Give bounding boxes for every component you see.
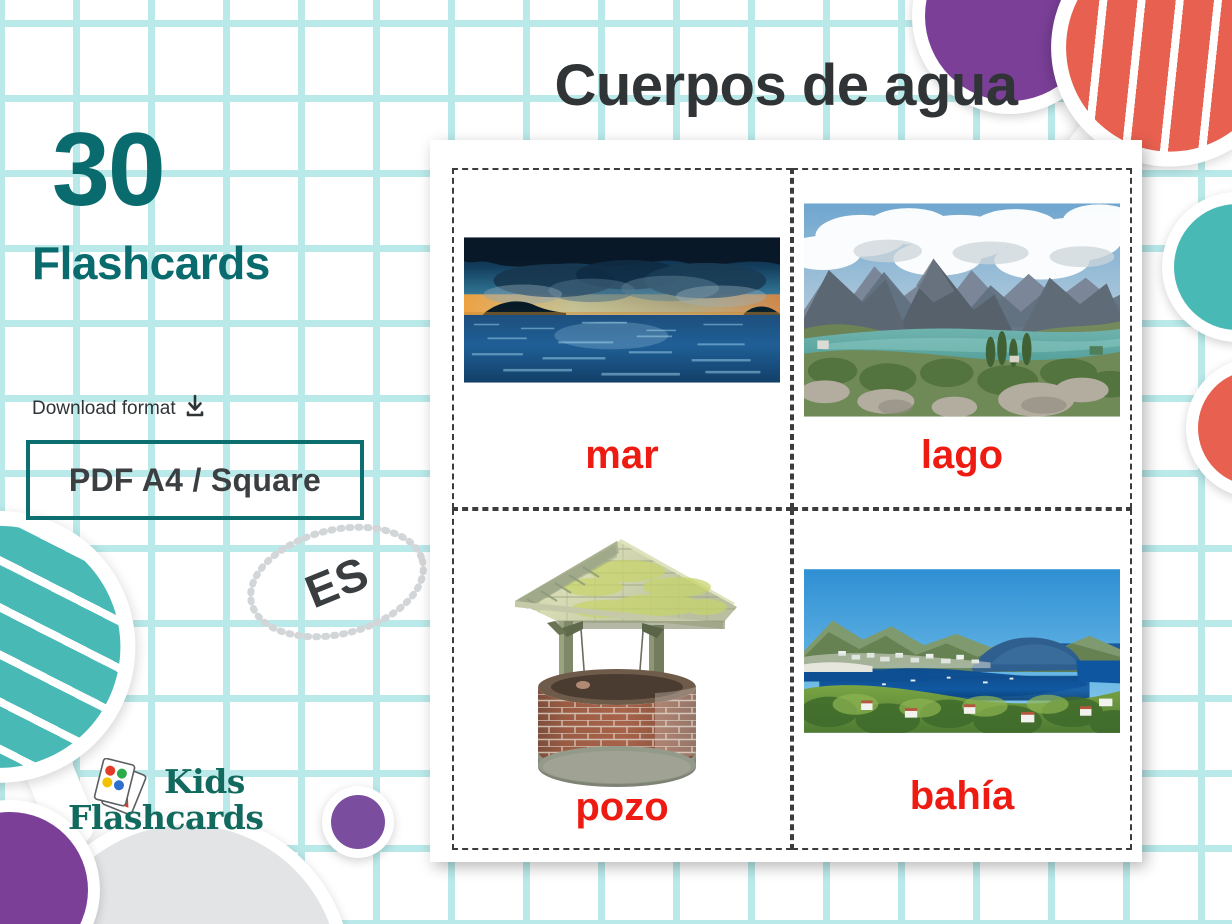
download-format-row: Download format <box>32 394 206 423</box>
flashcard-pozo[interactable]: pozo <box>452 509 792 850</box>
flashcard-count: 30 <box>52 118 164 222</box>
flashcard-lago[interactable]: lago <box>792 168 1132 509</box>
flashcard-grid: mar <box>452 168 1132 850</box>
flashcards-preview-page: 30 Flashcards Download format PDF A4 / S… <box>0 0 1232 924</box>
pdf-format-button-label: PDF A4 / Square <box>69 462 321 499</box>
brand-name-line2: Flashcards <box>68 798 263 837</box>
flashcard-word: pozo <box>575 787 668 850</box>
flashcard-word: mar <box>585 435 658 499</box>
flashcard-word: bahía <box>910 776 1014 840</box>
flashcard-bahia[interactable]: bahía <box>792 509 1132 850</box>
flashcard-count-label: Flashcards <box>32 240 270 286</box>
mountain-lake-photo <box>804 198 1120 422</box>
purple-dot-decoration <box>322 786 394 858</box>
flashcard-image-wrap <box>804 525 1120 776</box>
page-title: Cuerpos de agua <box>430 52 1142 119</box>
flashcard-image-wrap <box>464 525 780 787</box>
flashcard-image-wrap <box>464 184 780 435</box>
sea-sunset-photo <box>464 236 780 384</box>
flashcard-image-wrap <box>804 184 1120 435</box>
flashcard-sheet: mar <box>430 140 1142 862</box>
flashcard-word: lago <box>921 435 1003 499</box>
download-icon[interactable] <box>184 394 206 423</box>
language-stamp: ES <box>243 522 431 642</box>
brand-logo[interactable]: Kids Flashcards <box>64 756 294 842</box>
pdf-format-button[interactable]: PDF A4 / Square <box>26 440 364 520</box>
download-format-label: Download format <box>32 398 176 420</box>
flashcard-mar[interactable]: mar <box>452 168 792 509</box>
brick-well-photo <box>497 525 747 787</box>
coastal-bay-photo <box>804 565 1120 737</box>
brand-name-line1: Kids <box>164 762 245 801</box>
